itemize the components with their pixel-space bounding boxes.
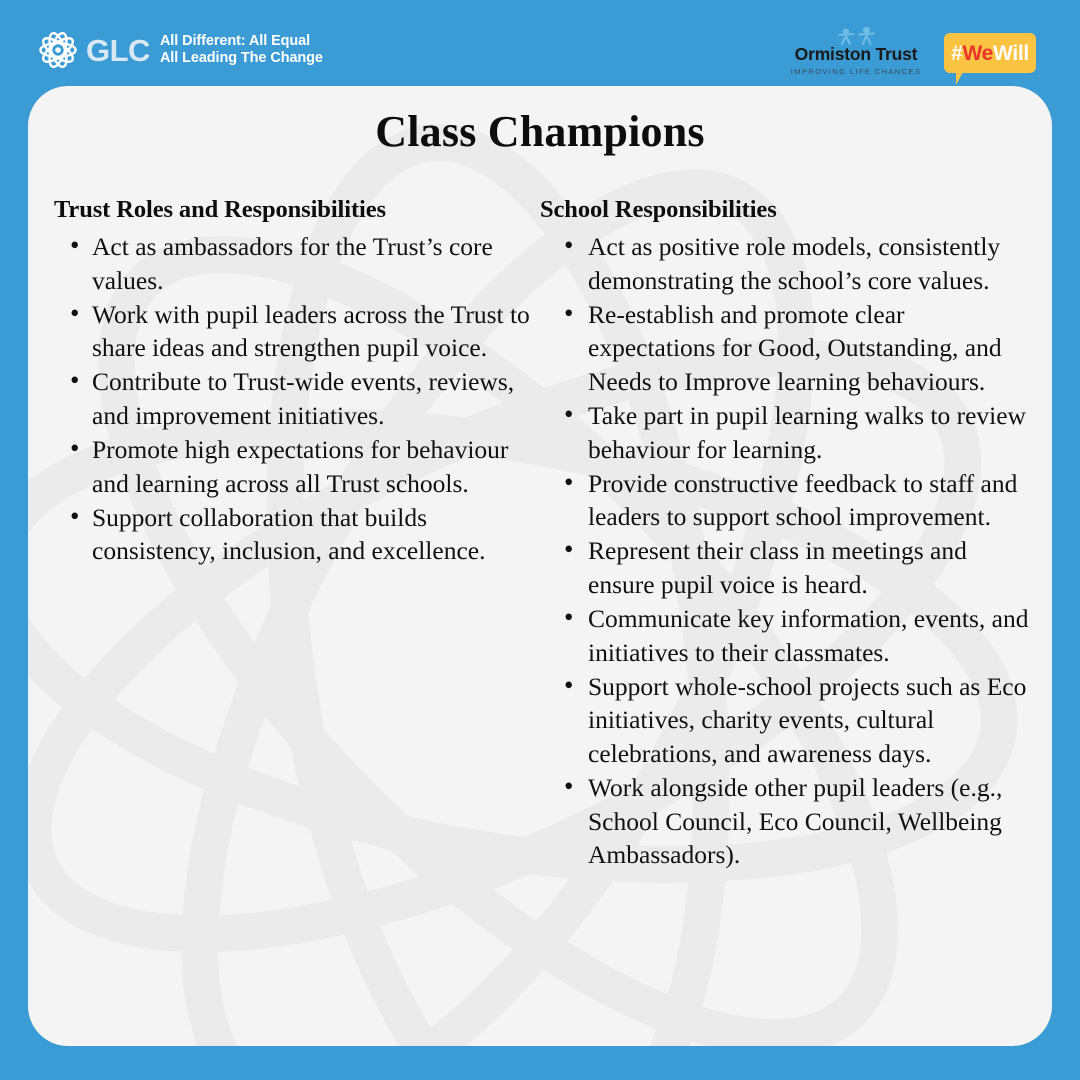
list-item: Act as ambassadors for the Trust’s core … [48,230,538,297]
list-item: Take part in pupil learning walks to rev… [538,399,1038,466]
list-item: Contribute to Trust-wide events, reviews… [48,365,538,432]
list-item: Work with pupil leaders across the Trust… [48,298,538,365]
header-bar: GLC All Different: All Equal All Leading… [0,0,1080,86]
column-school-responsibilities: School Responsibilities Act as positive … [538,196,1038,872]
school-responsibilities-list: Act as positive role models, consistentl… [538,230,1038,872]
glc-tagline-line-2: All Leading The Change [160,50,323,67]
column-heading-trust-roles: Trust Roles and Responsibilities [48,196,538,224]
column-heading-school-responsibilities: School Responsibilities [538,196,1038,224]
glc-tagline-line-1: All Different: All Equal [160,33,323,50]
list-item: Act as positive role models, consistentl… [538,230,1038,297]
list-item: Support whole-school projects such as Ec… [538,670,1038,771]
page-title: Class Champions [28,106,1052,157]
list-item: Represent their class in meetings and en… [538,534,1038,601]
list-item: Re-establish and promote clear expectati… [538,298,1038,399]
glc-tagline: All Different: All Equal All Leading The… [160,33,323,67]
list-item: Promote high expectations for behaviour … [48,433,538,500]
wewill-badge: #WeWill [944,33,1036,73]
ormiston-trust-strapline: IMPROVING LIFE CHANCES [786,67,926,76]
column-trust-roles: Trust Roles and Responsibilities Act as … [48,196,538,568]
list-item: Work alongside other pupil leaders (e.g.… [538,771,1038,872]
list-item: Support collaboration that builds consis… [48,501,538,568]
wewill-hash: # [951,43,962,64]
ormiston-trust-logo: Ormiston Trust IMPROVING LIFE CHANCES [786,26,926,76]
ormiston-trust-name: Ormiston Trust [786,45,926,64]
content-card: Class Champions Trust Roles and Responsi… [28,86,1052,1046]
trust-roles-list: Act as ambassadors for the Trust’s core … [48,230,538,568]
card-content: Class Champions Trust Roles and Responsi… [28,86,1052,1046]
person-figure-icon [833,26,879,46]
list-item: Communicate key information, events, and… [538,602,1038,669]
wewill-will: Will [993,43,1029,64]
poster-canvas: GLC All Different: All Equal All Leading… [0,0,1080,1080]
glc-wordmark: GLC [86,35,150,66]
glc-logo-lockup: GLC All Different: All Equal All Leading… [38,30,323,70]
list-item: Provide constructive feedback to staff a… [538,467,1038,534]
wewill-we: We [962,43,993,64]
wewill-badge-text: #WeWill [944,33,1036,73]
atom-orbit-icon [38,30,78,70]
